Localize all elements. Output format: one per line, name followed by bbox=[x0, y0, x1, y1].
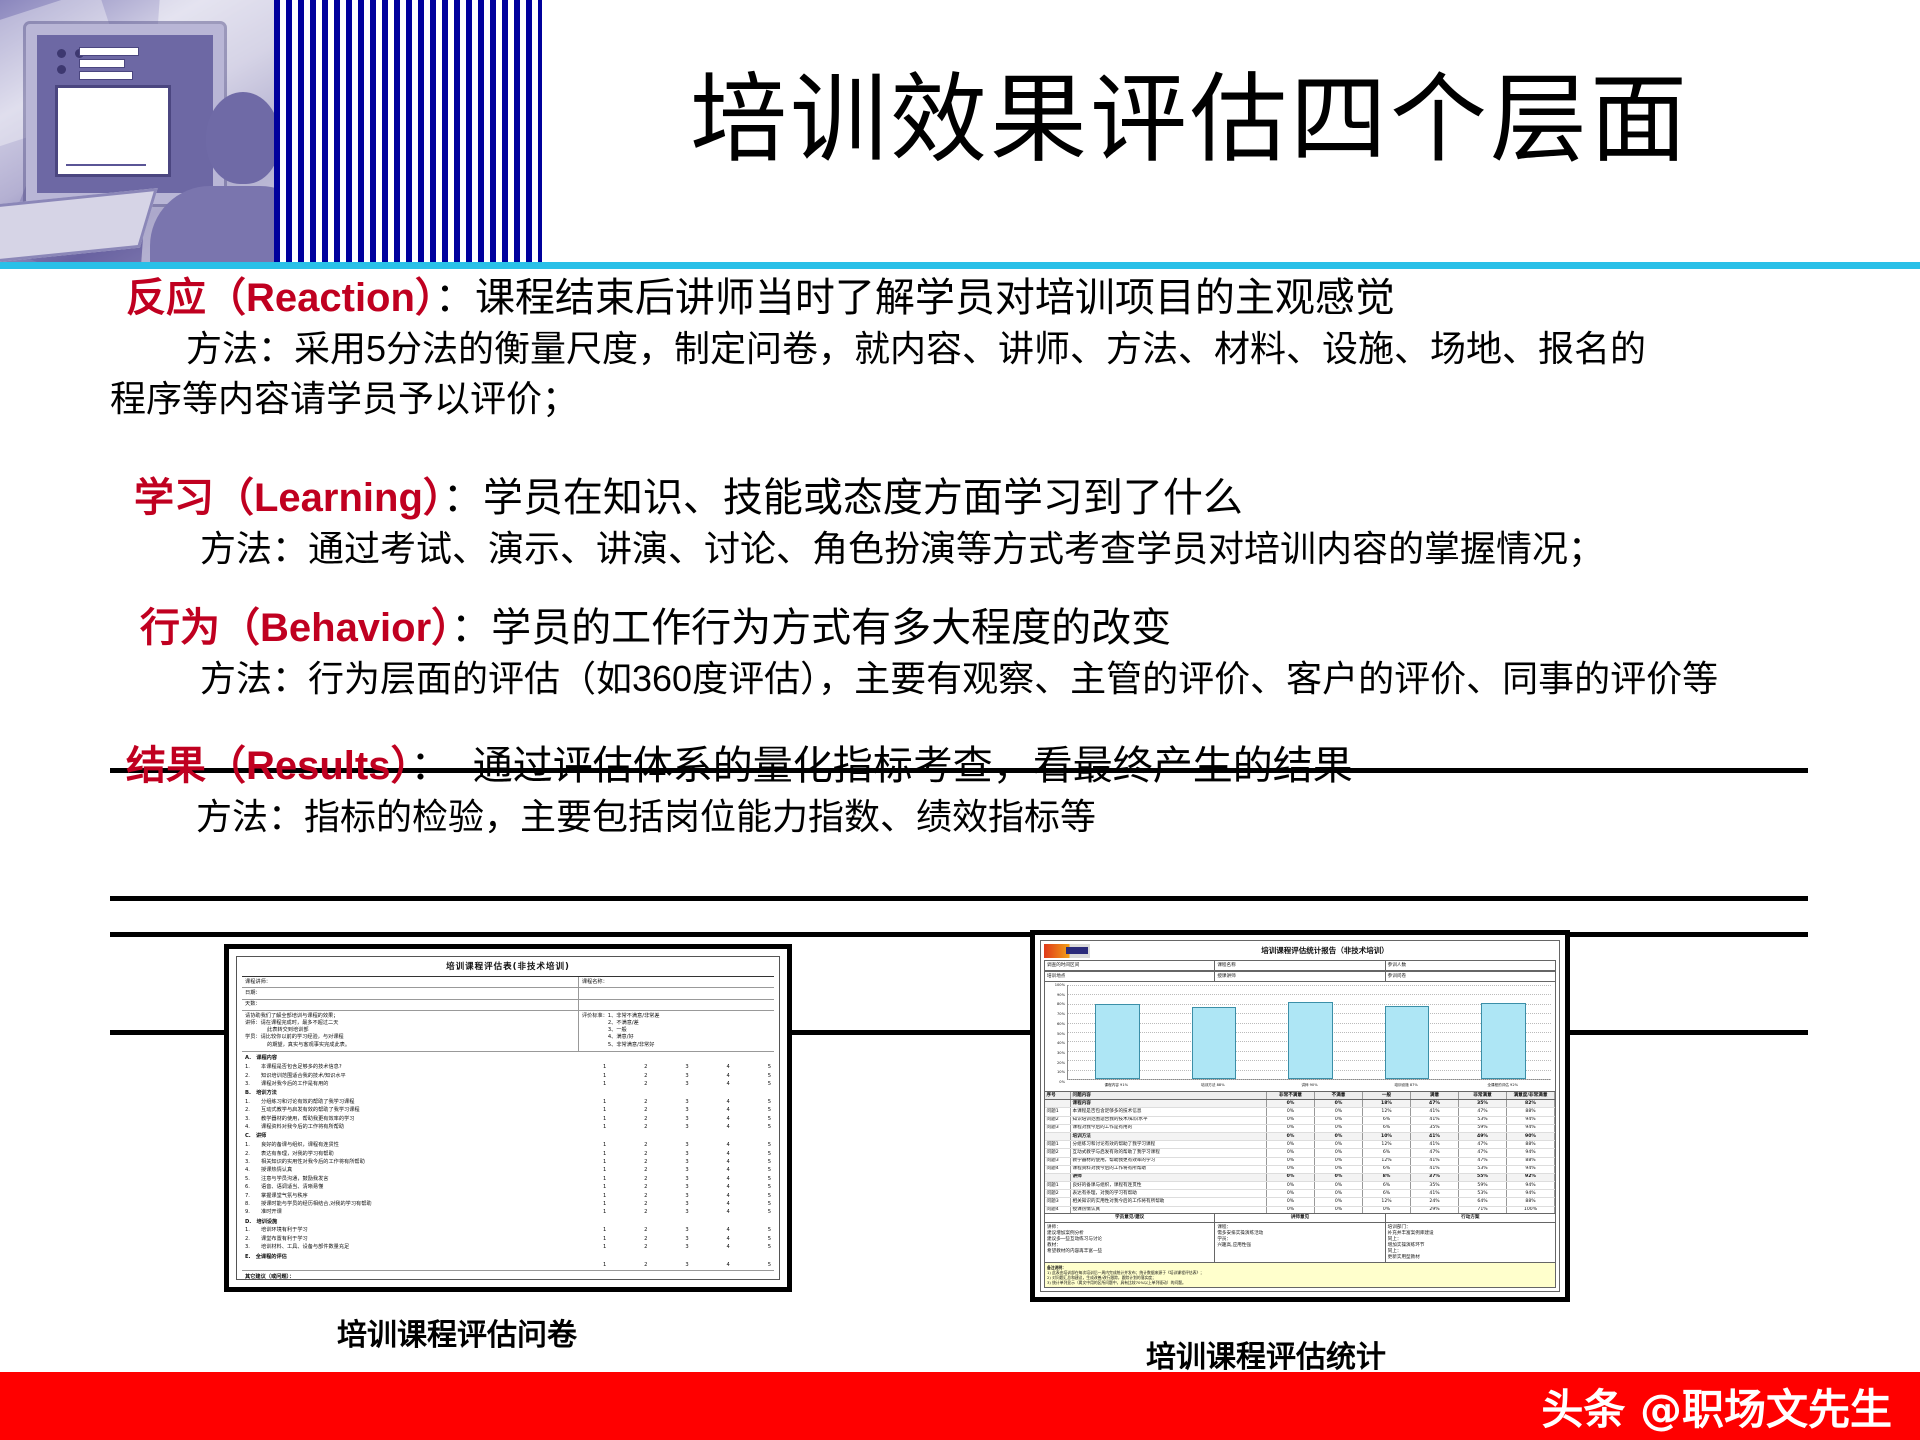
rating-option[interactable]: 1 bbox=[603, 1244, 606, 1251]
meta-participants: 参训人数 bbox=[1386, 961, 1555, 970]
scale-legend-line: 评价标准：1、非常不满意/非常差 bbox=[582, 1013, 771, 1020]
chart-x-label: 培训设施 87% bbox=[1358, 1082, 1455, 1088]
rating-option[interactable]: 2 bbox=[644, 1244, 647, 1251]
rating-option[interactable]: 4 bbox=[727, 1193, 730, 1200]
monitor-icon bbox=[26, 24, 224, 204]
questionnaire-field-row: 课程讲师： 课程名称： bbox=[242, 977, 774, 988]
item-number: 6. bbox=[245, 1184, 261, 1191]
table-cell bbox=[1045, 1174, 1071, 1181]
rating-option[interactable]: 3 bbox=[685, 1209, 688, 1216]
item-rating-scale[interactable]: 12345 bbox=[603, 1073, 771, 1080]
rating-option[interactable]: 4 bbox=[727, 1099, 730, 1106]
table-cell: 41% bbox=[1411, 1133, 1459, 1140]
intro-right-scale-legend: 评价标准：1、非常不满意/非常差 2、不满意/差 3、一般 4、满意/好 5、非… bbox=[579, 1011, 774, 1051]
item-rating-scale[interactable]: 12345 bbox=[603, 1142, 771, 1149]
report-panel-line: 兴趣高,应用性强 bbox=[1217, 1243, 1382, 1249]
questionnaire-groups: A. 课程内容1.本课程是否包含足够多的技术信息?123452.知识培训范围适合… bbox=[242, 1052, 774, 1270]
chart-y-tick: 100% bbox=[1055, 982, 1065, 988]
table-row: 问题1本课程是否包含足够多的技术信息0%0%12%41%47%88% bbox=[1045, 1108, 1555, 1116]
section-results-colon: ： bbox=[411, 744, 451, 788]
item-number: 3. bbox=[245, 1116, 261, 1123]
table-cell: 0% bbox=[1267, 1158, 1315, 1165]
questionnaire-footer: 其它建议（或问题）： bbox=[242, 1270, 774, 1284]
rating-option[interactable]: 5 bbox=[768, 1193, 771, 1200]
report-panel-line: 希望教材的内容再丰富一些 bbox=[1047, 1249, 1212, 1255]
table-cell: 0% bbox=[1363, 1207, 1411, 1214]
rating-option[interactable]: 1 bbox=[603, 1124, 606, 1131]
item-text: 互动式教学与启发有效的帮助了我学习课程 bbox=[261, 1107, 603, 1114]
chart-y-tick: 20% bbox=[1057, 1060, 1065, 1066]
rating-option[interactable]: 5 bbox=[768, 1236, 771, 1243]
item-rating-scale[interactable]: 12345 bbox=[603, 1236, 771, 1243]
questionnaire-item[interactable]: 2.互动式教学与启发有效的帮助了我学习课程12345 bbox=[242, 1107, 774, 1115]
item-text: 相关知识的实用性对我今后的工作将有所帮助 bbox=[261, 1159, 603, 1166]
rating-option[interactable]: 1 bbox=[603, 1064, 606, 1071]
table-cell: 相关知识的实用性对我今后的工作将有所帮助 bbox=[1071, 1198, 1267, 1205]
rating-option[interactable]: 3 bbox=[685, 1107, 688, 1114]
rating-option[interactable]: 2 bbox=[644, 1209, 647, 1216]
rating-option[interactable]: 2 bbox=[644, 1116, 647, 1123]
item-rating-scale[interactable]: 12345 bbox=[603, 1081, 771, 1088]
table-column-header: 一般 bbox=[1363, 1092, 1411, 1099]
questionnaire-item[interactable]: 3.培训材料、工具、设备与部件数量充足12345 bbox=[242, 1244, 774, 1252]
report-panel: 行动方案培训部门：补充并丰富案例库建设同上：增加实操演练环节同上：更新实用型教材 bbox=[1386, 1214, 1555, 1262]
report-meta-row: 调查的时间区间 课程名称 参训人数 bbox=[1044, 960, 1556, 971]
rating-option[interactable]: 3 bbox=[685, 1073, 688, 1080]
questionnaire-item[interactable]: 5.注意与学员沟通，鼓励我发言12345 bbox=[242, 1175, 774, 1183]
rating-option[interactable]: 1 bbox=[603, 1167, 606, 1174]
rating-option[interactable]: 5 bbox=[768, 1201, 771, 1208]
table-cell: 47% bbox=[1459, 1158, 1507, 1165]
rating-option[interactable]: 1 bbox=[603, 1116, 606, 1123]
item-number: 3. bbox=[245, 1159, 261, 1166]
company-logo-icon bbox=[1044, 944, 1090, 958]
questionnaire-item[interactable]: 3.教学器材的使用，帮助我更有效率的学习12345 bbox=[242, 1115, 774, 1123]
item-number: 1. bbox=[245, 1227, 261, 1234]
questionnaire-title: 培训课程评估表(非技术培训) bbox=[242, 960, 774, 977]
rating-option[interactable]: 2 bbox=[644, 1151, 647, 1158]
rating-option[interactable]: 5 bbox=[768, 1184, 771, 1191]
rating-option[interactable]: 5 bbox=[768, 1244, 771, 1251]
report-panel-header: 行动方案 bbox=[1386, 1214, 1555, 1223]
table-cell: 6% bbox=[1363, 1125, 1411, 1132]
table-cell: 0% bbox=[1315, 1207, 1363, 1214]
table-cell: 课程资料对我今后的工作将有所帮助 bbox=[1071, 1166, 1267, 1173]
table-cell: 问题3 bbox=[1045, 1125, 1071, 1132]
rating-option[interactable]: 3 bbox=[685, 1116, 688, 1123]
rating-option[interactable]: 1 bbox=[603, 1073, 606, 1080]
rating-option[interactable]: 3 bbox=[685, 1227, 688, 1234]
item-number: 3. bbox=[245, 1244, 261, 1251]
rating-option[interactable]: 3 bbox=[685, 1159, 688, 1166]
table-cell: 0% bbox=[1315, 1190, 1363, 1197]
report-panel: 讲师意见课程：需多安排实操演练活动学员：兴趣高,应用性强 bbox=[1215, 1214, 1385, 1262]
rating-option[interactable]: 5 bbox=[768, 1124, 771, 1131]
table-column-header: 序号 bbox=[1045, 1092, 1071, 1099]
report-bottom-panels: 学员意见/建议讲师：建议增加案例分析建议多一些互动练习与讨论教材：希望教材的内容… bbox=[1044, 1214, 1556, 1263]
table-cell: 6% bbox=[1363, 1117, 1411, 1124]
table-cell: 94% bbox=[1507, 1117, 1555, 1124]
report-panel: 学员意见/建议讲师：建议增加案例分析建议多一些互动练习与讨论教材：希望教材的内容… bbox=[1045, 1214, 1215, 1262]
rating-option[interactable]: 3 bbox=[685, 1262, 688, 1269]
rating-option[interactable]: 3 bbox=[685, 1099, 688, 1106]
table-row: 问题3相关知识的实用性对我今后的工作将有所帮助0%0%12%24%64%88% bbox=[1045, 1198, 1555, 1206]
section-results-heading: 结果（Results）： 通过评估体系的量化指标考查，看最终产生的结果 bbox=[126, 740, 1353, 792]
item-text: 培训材料、工具、设备与部件数量充足 bbox=[261, 1244, 603, 1251]
item-rating-scale[interactable]: 12345 bbox=[603, 1099, 771, 1106]
questionnaire-item[interactable]: 12345 bbox=[242, 1262, 774, 1270]
questionnaire-item[interactable]: 7.掌握课堂气氛与秩序12345 bbox=[242, 1192, 774, 1200]
item-rating-scale[interactable]: 12345 bbox=[603, 1107, 771, 1114]
table-cell: 问题3 bbox=[1045, 1158, 1071, 1165]
table-cell: 本课程是否包含足够多的技术信息 bbox=[1071, 1108, 1267, 1115]
table-cell: 0% bbox=[1267, 1133, 1315, 1140]
table-cell: 0% bbox=[1315, 1133, 1363, 1140]
questionnaire-item[interactable]: 2.知识培训范围适合我的技术/知识水平12345 bbox=[242, 1072, 774, 1080]
item-text: 本课程是否包含足够多的技术信息? bbox=[261, 1064, 603, 1071]
rating-option[interactable]: 1 bbox=[603, 1151, 606, 1158]
item-rating-scale[interactable]: 12345 bbox=[603, 1159, 771, 1166]
questionnaire-item[interactable]: 3.课程对我今后的工作是有用的12345 bbox=[242, 1080, 774, 1088]
table-cell: 37% bbox=[1411, 1174, 1459, 1181]
chart-x-label: 培训方法 88% bbox=[1165, 1082, 1262, 1088]
rating-option[interactable]: 3 bbox=[685, 1244, 688, 1251]
rating-option[interactable]: 1 bbox=[603, 1107, 606, 1114]
item-rating-scale[interactable]: 12345 bbox=[603, 1262, 771, 1269]
rating-option[interactable]: 4 bbox=[727, 1227, 730, 1234]
questionnaire-group-heading: D. 培训设施 bbox=[242, 1217, 774, 1227]
item-rating-scale[interactable]: 12345 bbox=[603, 1184, 771, 1191]
item-rating-scale[interactable]: 12345 bbox=[603, 1124, 771, 1131]
table-cell: 12% bbox=[1363, 1108, 1411, 1115]
item-number: 7. bbox=[245, 1193, 261, 1200]
rating-option[interactable]: 2 bbox=[644, 1184, 647, 1191]
questionnaire-item[interactable]: 1.良好的备课与组织，课程有连贯性12345 bbox=[242, 1142, 774, 1150]
table-cell: 问题4 bbox=[1045, 1166, 1071, 1173]
rating-option[interactable]: 4 bbox=[727, 1107, 730, 1114]
table-cell: 0% bbox=[1267, 1117, 1315, 1124]
table-cell: 55% bbox=[1459, 1174, 1507, 1181]
rating-option[interactable]: 4 bbox=[727, 1142, 730, 1149]
rating-option[interactable]: 2 bbox=[644, 1159, 647, 1166]
field-course-name: 课程名称： bbox=[579, 977, 774, 987]
rating-option[interactable]: 1 bbox=[603, 1193, 606, 1200]
table-row: 问题3教学器材的使用，帮助我更有效率的学习0%0%12%41%47%88% bbox=[1045, 1158, 1555, 1166]
rating-option[interactable]: 2 bbox=[644, 1073, 647, 1080]
rating-option[interactable]: 3 bbox=[685, 1081, 688, 1088]
table-cell: 0% bbox=[1315, 1158, 1363, 1165]
item-number: 4. bbox=[245, 1124, 261, 1131]
report-header: 培训课程评估统计报告（非技术培训） bbox=[1044, 944, 1556, 960]
table-cell: 6% bbox=[1363, 1166, 1411, 1173]
rating-option[interactable]: 3 bbox=[685, 1184, 688, 1191]
page-title: 培训效果评估四个层面 bbox=[690, 58, 1880, 188]
rating-option[interactable]: 1 bbox=[603, 1262, 606, 1269]
report-panel-header: 学员意见/建议 bbox=[1045, 1214, 1214, 1223]
item-text: 授课时能与学员的经历相结合,对我的学习有帮助 bbox=[261, 1201, 603, 1208]
slide-body: 反应（Reaction）：课程结束后讲师当时了解学员对培训项目的主观感觉 方法：… bbox=[0, 272, 1920, 932]
table-cell: 92% bbox=[1507, 1174, 1555, 1181]
item-rating-scale[interactable]: 12345 bbox=[603, 1167, 771, 1174]
chart-y-tick: 50% bbox=[1057, 1031, 1065, 1037]
rating-option[interactable]: 2 bbox=[644, 1227, 647, 1234]
blue-stripe-pattern bbox=[274, 0, 542, 262]
rating-option[interactable]: 2 bbox=[644, 1107, 647, 1114]
rating-option[interactable]: 4 bbox=[727, 1262, 730, 1269]
rating-option[interactable]: 5 bbox=[768, 1142, 771, 1149]
table-cell bbox=[1045, 1133, 1071, 1140]
questionnaire-item[interactable]: 1.培训环境有利于学习12345 bbox=[242, 1227, 774, 1235]
table-cell: 0% bbox=[1267, 1198, 1315, 1205]
rating-option[interactable]: 5 bbox=[768, 1167, 771, 1174]
rating-option[interactable]: 5 bbox=[768, 1081, 771, 1088]
chart-y-tick: 70% bbox=[1057, 1011, 1065, 1017]
item-rating-scale[interactable]: 12345 bbox=[603, 1244, 771, 1251]
intro-left-line: 请协助我们了解全部培训与课程的效果； bbox=[245, 1013, 575, 1020]
rating-option[interactable]: 4 bbox=[727, 1209, 730, 1216]
table-cell: 71% bbox=[1459, 1207, 1507, 1214]
questionnaire-group-heading: E. 全课程的评估 bbox=[242, 1252, 774, 1262]
item-number: 1. bbox=[245, 1142, 261, 1149]
questionnaire-item[interactable]: 4.授课热情认真12345 bbox=[242, 1167, 774, 1175]
rating-option[interactable]: 1 bbox=[603, 1142, 606, 1149]
monitor-menu-bars bbox=[79, 47, 171, 77]
statistics-report-page: 培训课程评估统计报告（非技术培训） 调查的时间区间 课程名称 参训人数 培训地点… bbox=[1040, 940, 1560, 1292]
chart-y-tick: 40% bbox=[1057, 1040, 1065, 1046]
questionnaire-item[interactable]: 4.课程资料对我今后的工作将有所帮助12345 bbox=[242, 1124, 774, 1132]
table-row: 课程内容0%0%18%47%35%82% bbox=[1045, 1100, 1555, 1108]
table-cell: 知识培训范围适合我的技术/知识水平 bbox=[1071, 1117, 1267, 1124]
rating-option[interactable]: 5 bbox=[768, 1099, 771, 1106]
table-column-header: 非常不满意 bbox=[1267, 1092, 1315, 1099]
table-cell: 18% bbox=[1363, 1100, 1411, 1107]
table-cell: 29% bbox=[1411, 1207, 1459, 1214]
rating-option[interactable]: 3 bbox=[685, 1064, 688, 1071]
rating-option[interactable]: 1 bbox=[603, 1184, 606, 1191]
item-text: 注意与学员沟通，鼓励我发言 bbox=[261, 1176, 603, 1183]
table-cell: 82% bbox=[1507, 1100, 1555, 1107]
rating-option[interactable]: 5 bbox=[768, 1116, 771, 1123]
table-cell: 0% bbox=[1267, 1174, 1315, 1181]
field-days: 天数： bbox=[242, 1000, 579, 1010]
rating-option[interactable]: 3 bbox=[685, 1193, 688, 1200]
rating-option[interactable]: 5 bbox=[768, 1227, 771, 1234]
rating-option[interactable]: 5 bbox=[768, 1159, 771, 1166]
table-cell: 表达有条理，对我的学习有帮助 bbox=[1071, 1190, 1267, 1197]
section-behavior-keyword: 行为 bbox=[140, 606, 220, 650]
table-cell: 0% bbox=[1315, 1125, 1363, 1132]
scale-legend-line: 5、非常满意/非常好 bbox=[582, 1042, 771, 1049]
table-cell: 课程对我今后的工作是有用的 bbox=[1071, 1125, 1267, 1132]
rating-option[interactable]: 5 bbox=[768, 1209, 771, 1216]
rating-option[interactable]: 3 bbox=[685, 1236, 688, 1243]
rating-option[interactable]: 4 bbox=[727, 1184, 730, 1191]
rating-option[interactable]: 4 bbox=[727, 1244, 730, 1251]
rating-option[interactable]: 3 bbox=[685, 1142, 688, 1149]
questionnaire-group-heading: C. 讲师 bbox=[242, 1132, 774, 1142]
table-cell: 问题3 bbox=[1045, 1198, 1071, 1205]
rating-option[interactable]: 2 bbox=[644, 1064, 647, 1071]
section-behavior-english: （Behavior） bbox=[220, 606, 451, 650]
section-reaction-colon: ： bbox=[435, 276, 475, 320]
table-cell: 问题2 bbox=[1045, 1190, 1071, 1197]
rating-option[interactable]: 5 bbox=[768, 1176, 771, 1183]
rating-option[interactable]: 4 bbox=[727, 1159, 730, 1166]
item-text: 课程对我今后的工作是有用的 bbox=[261, 1081, 603, 1088]
item-text bbox=[261, 1262, 603, 1269]
questionnaire-item[interactable]: 1.本课程是否包含足够多的技术信息?12345 bbox=[242, 1064, 774, 1072]
rating-option[interactable]: 4 bbox=[727, 1176, 730, 1183]
rating-option[interactable]: 3 bbox=[685, 1151, 688, 1158]
report-panel-line: 更新实用型教材 bbox=[1388, 1255, 1553, 1261]
questionnaire-item[interactable]: 8.授课时能与学员的经历相结合,对我的学习有帮助12345 bbox=[242, 1200, 774, 1208]
rating-option[interactable]: 2 bbox=[644, 1201, 647, 1208]
rating-option[interactable]: 5 bbox=[768, 1064, 771, 1071]
rating-option[interactable]: 5 bbox=[768, 1262, 771, 1269]
rating-option[interactable]: 1 bbox=[603, 1227, 606, 1234]
table-cell: 问题1 bbox=[1045, 1108, 1071, 1115]
item-rating-scale[interactable]: 12345 bbox=[603, 1151, 771, 1158]
caption-questionnaire: 培训课程评估问卷 bbox=[337, 1310, 577, 1354]
person-head-shape bbox=[206, 92, 274, 184]
item-rating-scale[interactable]: 12345 bbox=[603, 1201, 771, 1208]
table-cell: 8% bbox=[1363, 1174, 1411, 1181]
rating-option[interactable]: 2 bbox=[644, 1081, 647, 1088]
rating-option[interactable]: 2 bbox=[644, 1167, 647, 1174]
questionnaire-item[interactable]: 2.课堂布置有利于学习12345 bbox=[242, 1235, 774, 1243]
item-text: 课堂布置有利于学习 bbox=[261, 1236, 603, 1243]
rating-option[interactable]: 4 bbox=[727, 1064, 730, 1071]
table-cell: 0% bbox=[1315, 1182, 1363, 1189]
rating-option[interactable]: 5 bbox=[768, 1151, 771, 1158]
section-results-keyword: 结果 bbox=[126, 744, 206, 788]
section-reaction-english: （Reaction） bbox=[206, 276, 435, 320]
rating-option[interactable]: 3 bbox=[685, 1176, 688, 1183]
rating-option[interactable]: 5 bbox=[768, 1107, 771, 1114]
rating-option[interactable]: 4 bbox=[727, 1167, 730, 1174]
item-rating-scale[interactable]: 12345 bbox=[603, 1176, 771, 1183]
rating-option[interactable]: 1 bbox=[603, 1209, 606, 1216]
rating-option[interactable]: 4 bbox=[727, 1151, 730, 1158]
table-cell: 0% bbox=[1315, 1174, 1363, 1181]
section-reaction-heading: 反应（Reaction）：课程结束后讲师当时了解学员对培训项目的主观感觉 bbox=[126, 272, 1395, 324]
table-cell: 47% bbox=[1459, 1108, 1507, 1115]
rating-option[interactable]: 2 bbox=[644, 1236, 647, 1243]
item-rating-scale[interactable]: 12345 bbox=[603, 1064, 771, 1071]
item-text: 教学器材的使用，帮助我更有效率的学习 bbox=[261, 1116, 603, 1123]
chart-x-label: 全课程的评估 92% bbox=[1454, 1082, 1551, 1088]
item-text: 分组练习和讨论有效的帮助了我学习课程 bbox=[261, 1099, 603, 1106]
item-rating-scale[interactable]: 12345 bbox=[603, 1227, 771, 1234]
table-cell: 88% bbox=[1507, 1158, 1555, 1165]
scale-legend-line: 4、满意/好 bbox=[582, 1034, 771, 1041]
chart-gridline bbox=[1068, 1079, 1551, 1080]
questionnaire-item[interactable]: 2.表达有条理，对我的学习有帮助12345 bbox=[242, 1150, 774, 1158]
rating-option[interactable]: 4 bbox=[727, 1081, 730, 1088]
table-cell: 问题4 bbox=[1045, 1207, 1071, 1214]
table-cell: 0% bbox=[1267, 1207, 1315, 1214]
item-number: 1. bbox=[245, 1099, 261, 1106]
table-cell: 分组练习和讨论有效的帮助了我学习课程 bbox=[1071, 1141, 1267, 1148]
table-cell: 0% bbox=[1267, 1182, 1315, 1189]
rating-option[interactable]: 2 bbox=[644, 1142, 647, 1149]
rating-option[interactable]: 3 bbox=[685, 1124, 688, 1131]
rating-option[interactable]: 1 bbox=[603, 1081, 606, 1088]
table-cell: 100% bbox=[1507, 1207, 1555, 1214]
questionnaire-field-row: 天数： bbox=[242, 1000, 774, 1011]
table-row: 问题4授课热情认真0%0%0%29%71%100% bbox=[1045, 1207, 1555, 1214]
rating-option[interactable]: 3 bbox=[685, 1201, 688, 1208]
table-cell: 94% bbox=[1507, 1182, 1555, 1189]
rating-option[interactable]: 4 bbox=[727, 1073, 730, 1080]
meta-trainer: 授课讲师 bbox=[1215, 972, 1385, 981]
rating-option[interactable]: 3 bbox=[685, 1167, 688, 1174]
table-cell: 41% bbox=[1411, 1141, 1459, 1148]
table-row: 讲师0%0%8%37%55%92% bbox=[1045, 1174, 1555, 1182]
questionnaire-item[interactable]: 6.语音、语调适当、清晰易懂12345 bbox=[242, 1184, 774, 1192]
meta-time-range: 调查的时间区间 bbox=[1045, 961, 1215, 970]
item-rating-scale[interactable]: 12345 bbox=[603, 1193, 771, 1200]
table-cell: 35% bbox=[1411, 1125, 1459, 1132]
rating-option[interactable]: 5 bbox=[768, 1073, 771, 1080]
report-meta-row: 培训地点 授课讲师 参训问卷 bbox=[1044, 971, 1556, 982]
chart-y-tick: 80% bbox=[1057, 1001, 1065, 1007]
rating-option[interactable]: 1 bbox=[603, 1159, 606, 1166]
rating-option[interactable]: 2 bbox=[644, 1099, 647, 1106]
item-text: 语音、语调适当、清晰易懂 bbox=[261, 1184, 603, 1191]
rating-option[interactable]: 4 bbox=[727, 1124, 730, 1131]
item-rating-scale[interactable]: 12345 bbox=[603, 1116, 771, 1123]
rating-option[interactable]: 2 bbox=[644, 1124, 647, 1131]
rating-option[interactable]: 1 bbox=[603, 1176, 606, 1183]
table-cell: 0% bbox=[1267, 1108, 1315, 1115]
rating-option[interactable]: 4 bbox=[727, 1236, 730, 1243]
table-cell: 94% bbox=[1507, 1149, 1555, 1156]
caption-statistics: 培训课程评估统计 bbox=[1146, 1332, 1386, 1376]
table-cell: 41% bbox=[1411, 1158, 1459, 1165]
table-row: 问题1分组练习和讨论有效的帮助了我学习课程0%0%12%41%47%88% bbox=[1045, 1141, 1555, 1149]
rating-option[interactable]: 1 bbox=[603, 1099, 606, 1106]
table-cell: 49% bbox=[1459, 1133, 1507, 1140]
rating-option[interactable]: 1 bbox=[603, 1201, 606, 1208]
field-instructor: 课程讲师： bbox=[242, 977, 579, 987]
rating-option[interactable]: 4 bbox=[727, 1116, 730, 1123]
satisfaction-bar-chart: 100%90%80%70%60%50%40%30%20%10%0% 课程内容 9… bbox=[1044, 982, 1556, 1092]
rating-option[interactable]: 2 bbox=[644, 1193, 647, 1200]
report-title: 培训课程评估统计报告（非技术培训） bbox=[1094, 948, 1556, 954]
section-results-statement: 通过评估体系的量化指标考查，看最终产生的结果 bbox=[473, 744, 1353, 788]
questionnaire-item[interactable]: 1.分组练习和讨论有效的帮助了我学习课程12345 bbox=[242, 1098, 774, 1106]
rating-option[interactable]: 1 bbox=[603, 1236, 606, 1243]
questionnaire-item[interactable]: 3.相关知识的实用性对我今后的工作将有所帮助12345 bbox=[242, 1158, 774, 1166]
item-text: 掌握课堂气氛与秩序 bbox=[261, 1193, 603, 1200]
rating-option[interactable]: 4 bbox=[727, 1201, 730, 1208]
evaluation-statistics-thumbnail[interactable]: 培训课程评估统计报告（非技术培训） 调查的时间区间 课程名称 参训人数 培训地点… bbox=[1030, 930, 1570, 1302]
table-cell: 41% bbox=[1411, 1190, 1459, 1197]
table-cell: 0% bbox=[1315, 1108, 1363, 1115]
evaluation-questionnaire-thumbnail[interactable]: 培训课程评估表(非技术培训) 课程讲师： 课程名称： 日期： 天数： 请协助我们… bbox=[224, 944, 792, 1292]
table-cell: 0% bbox=[1267, 1100, 1315, 1107]
item-rating-scale[interactable]: 12345 bbox=[603, 1209, 771, 1216]
questionnaire-item[interactable]: 9.准时开课12345 bbox=[242, 1209, 774, 1217]
table-column-header: 非常满意 bbox=[1459, 1092, 1507, 1099]
table-cell: 47% bbox=[1411, 1100, 1459, 1107]
rating-option[interactable]: 2 bbox=[644, 1262, 647, 1269]
section-learning-colon: ： bbox=[443, 476, 483, 520]
table-cell: 培训方法 bbox=[1071, 1133, 1267, 1140]
meta-location: 培训地点 bbox=[1045, 972, 1215, 981]
rating-option[interactable]: 2 bbox=[644, 1176, 647, 1183]
